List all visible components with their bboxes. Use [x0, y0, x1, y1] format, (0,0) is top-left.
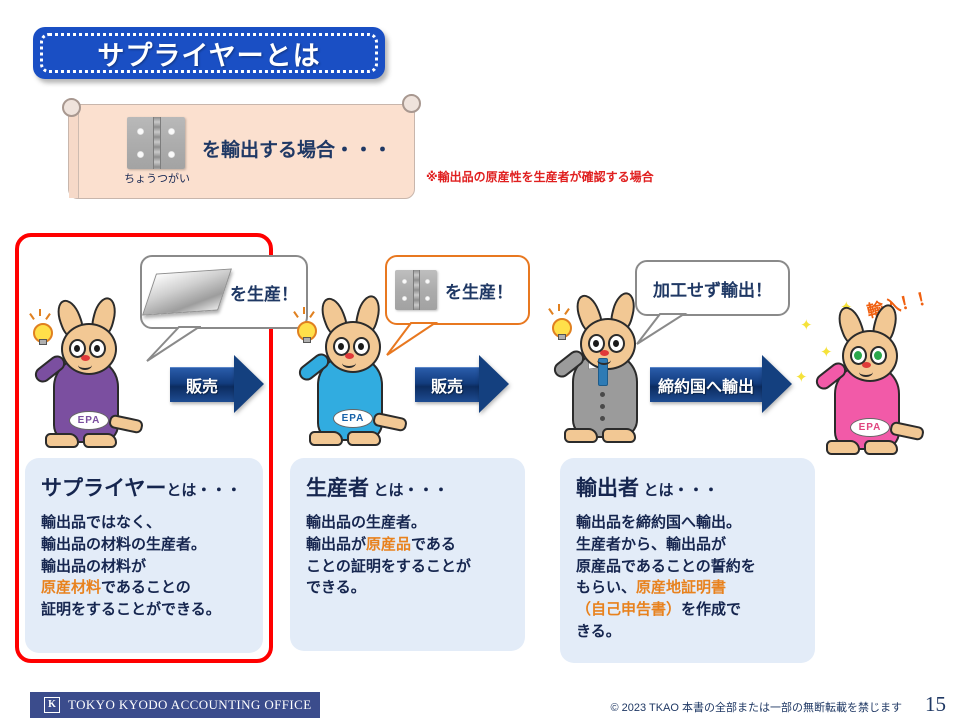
- card-title-suffix: とは・・・: [643, 482, 718, 499]
- hinge-pin: [153, 117, 161, 169]
- card-exporter-title: 輸出者 とは・・・: [576, 472, 801, 502]
- hinge-figure: ちょうつがい: [124, 117, 188, 186]
- hinge-screw: [137, 128, 144, 135]
- mascot-leg: [864, 440, 898, 455]
- mascot-supplier: EPA: [31, 305, 141, 455]
- mascot-eye: [608, 334, 625, 353]
- hinge-screw: [425, 279, 430, 284]
- card-producer-title: 生産者 とは・・・: [306, 472, 511, 502]
- card-exporter-body: 輸出品を締約国へ輸出。 生産者から、輸出品が 原産品であることの誓約を もらい、…: [576, 512, 801, 643]
- mascot-leg: [347, 431, 381, 446]
- mascot-eye: [870, 346, 887, 365]
- card-title-main: 輸出者: [576, 477, 639, 500]
- card-exporter: 輸出者 とは・・・ 輸出品を締約国へ輸出。 生産者から、輸出品が 原産品であるこ…: [560, 458, 815, 663]
- mascot-leg: [83, 433, 117, 448]
- mascot-leg: [309, 431, 343, 446]
- card-line: きる。: [576, 621, 801, 643]
- card-line: （自己申告書）を作成で: [576, 599, 801, 621]
- scroll-left-edge: [69, 105, 79, 198]
- card-producer: 生産者 とは・・・ 輸出品の生産者。 輸出品が原産品である ことの証明をすること…: [290, 458, 525, 651]
- arrow-label: 販売: [425, 373, 469, 397]
- card-line: 証明をすることができる。: [41, 599, 249, 621]
- hinge-screw: [402, 279, 407, 284]
- mascot-leg: [826, 440, 860, 455]
- hinge-screw: [402, 296, 407, 301]
- footer-logo-bar: K TOKYO KYODO ACCOUNTING OFFICE: [30, 692, 320, 718]
- red-annotation: ※輸出品の原産性を生産者が確認する場合: [426, 168, 654, 185]
- suit-button: [600, 392, 605, 397]
- arrow-label: 販売: [180, 373, 224, 397]
- card-supplier-title: サプライヤーとは・・・: [41, 472, 249, 502]
- supplier-bubble-text: を生産！: [230, 280, 298, 305]
- spark-icon: [303, 307, 305, 314]
- copyright-text: © 2023 TKAO 本書の全部または一部の無断転載を禁じます: [611, 699, 903, 715]
- card-supplier-body: 輸出品ではなく、 輸出品の材料の生産者。 輸出品の材料が 原産材料であることの …: [41, 512, 249, 621]
- idea-bulb-icon: [552, 318, 572, 338]
- sparkle-icon: ✦: [800, 318, 813, 333]
- mascot-eye: [89, 339, 106, 358]
- metal-plate-icon: [142, 268, 232, 315]
- hinge-caption: ちょうつがい: [124, 170, 188, 186]
- arrow-head: [479, 355, 509, 413]
- spark-icon: [39, 309, 41, 316]
- arrow-exporter-to-importer: 締約国へ輸出: [650, 355, 792, 413]
- card-line: できる。: [306, 577, 511, 599]
- card-line: 輸出品の材料の生産者。: [41, 534, 249, 556]
- card-producer-body: 輸出品の生産者。 輸出品が原産品である ことの証明をすることが できる。: [306, 512, 511, 599]
- hinge-icon: [127, 117, 185, 169]
- suit-button: [600, 404, 605, 409]
- mascot-epa-badge: EPA: [850, 418, 890, 437]
- arrow-head: [762, 355, 792, 413]
- spark-icon: [309, 311, 315, 318]
- card-title-main: 生産者: [306, 477, 369, 500]
- company-logo-icon: K: [44, 697, 60, 713]
- card-line: 輸出品が原産品である: [306, 534, 511, 556]
- spark-icon: [29, 313, 35, 320]
- card-line: ことの証明をすることが: [306, 556, 511, 578]
- spark-icon: [293, 311, 299, 318]
- suit-button: [600, 416, 605, 421]
- idea-bulb-icon: [33, 323, 53, 343]
- scroll-banner: ちょうつがい を輸出する場合・・・: [68, 104, 415, 199]
- card-line: 輸出品の材料が: [41, 556, 249, 578]
- slide-root: サプライヤーとは ちょうつがい を輸出する場合・・・ ※輸出品の原産性を生産者が…: [0, 0, 960, 720]
- arrow-producer-to-exporter: 販売: [415, 355, 509, 413]
- mascot-mouth: [78, 360, 92, 370]
- card-title-suffix: とは・・・: [373, 482, 448, 499]
- exporter-bubble-text: 加工せず輸出！: [653, 276, 772, 301]
- card-title-main: サプライヤー: [41, 477, 166, 500]
- sparkle-icon: ✦: [795, 370, 808, 385]
- hinge-screw: [137, 151, 144, 158]
- mascot-leg: [564, 428, 598, 443]
- scroll-curl-right-icon: [402, 94, 421, 113]
- producer-speech-bubble: を生産！: [385, 255, 530, 325]
- spark-icon: [564, 308, 570, 315]
- arrow-supplier-to-producer: 販売: [170, 355, 264, 413]
- company-name: TOKYO KYODO ACCOUNTING OFFICE: [68, 697, 312, 713]
- producer-bubble-text: を生産！: [445, 278, 513, 303]
- card-line: 原産材料であることの: [41, 577, 249, 599]
- spark-icon: [558, 304, 560, 311]
- mascot-leg: [45, 433, 79, 448]
- hinge-screw: [168, 128, 175, 135]
- arrow-label: 締約国へ輸出: [652, 373, 760, 397]
- mascot-eye: [353, 337, 370, 356]
- card-line: 輸出品を締約国へ輸出。: [576, 512, 801, 534]
- spark-icon: [45, 313, 51, 320]
- card-line: 原産品であることの誓約を: [576, 556, 801, 578]
- hinge-pin: [413, 270, 420, 310]
- card-line: 生産者から、輸出品が: [576, 534, 801, 556]
- hinge-screw: [168, 151, 175, 158]
- idea-bulb-icon: [297, 321, 317, 341]
- card-line: もらい、原産地証明書: [576, 577, 801, 599]
- mascot-mouth: [859, 367, 873, 377]
- mascot-leg: [602, 428, 636, 443]
- spark-icon: [548, 308, 554, 315]
- page-title: サプライヤーとは: [33, 27, 385, 79]
- slide-title-banner: サプライヤーとは: [33, 27, 385, 79]
- card-line: 輸出品の生産者。: [306, 512, 511, 534]
- page-number: 15: [925, 692, 946, 717]
- card-title-suffix: とは・・・: [166, 482, 241, 499]
- mascot-epa-badge: EPA: [333, 409, 373, 428]
- mascot-exporter: [550, 300, 660, 450]
- card-supplier: サプライヤーとは・・・ 輸出品ではなく、 輸出品の材料の生産者。 輸出品の材料が…: [25, 458, 263, 653]
- mascot-epa-badge: EPA: [69, 411, 109, 430]
- arrow-head: [234, 355, 264, 413]
- hinge-screw: [425, 296, 430, 301]
- mascot-mouth: [597, 355, 611, 365]
- mascot-producer: EPA: [295, 303, 405, 453]
- scroll-curl-left-icon: [62, 98, 81, 117]
- scroll-note-text: を輸出する場合・・・: [202, 135, 392, 162]
- mascot-mouth: [342, 358, 356, 368]
- supplier-speech-bubble: を生産！: [140, 255, 308, 329]
- card-line: 輸出品ではなく、: [41, 512, 249, 534]
- mascot-importer: EPA: [812, 312, 922, 462]
